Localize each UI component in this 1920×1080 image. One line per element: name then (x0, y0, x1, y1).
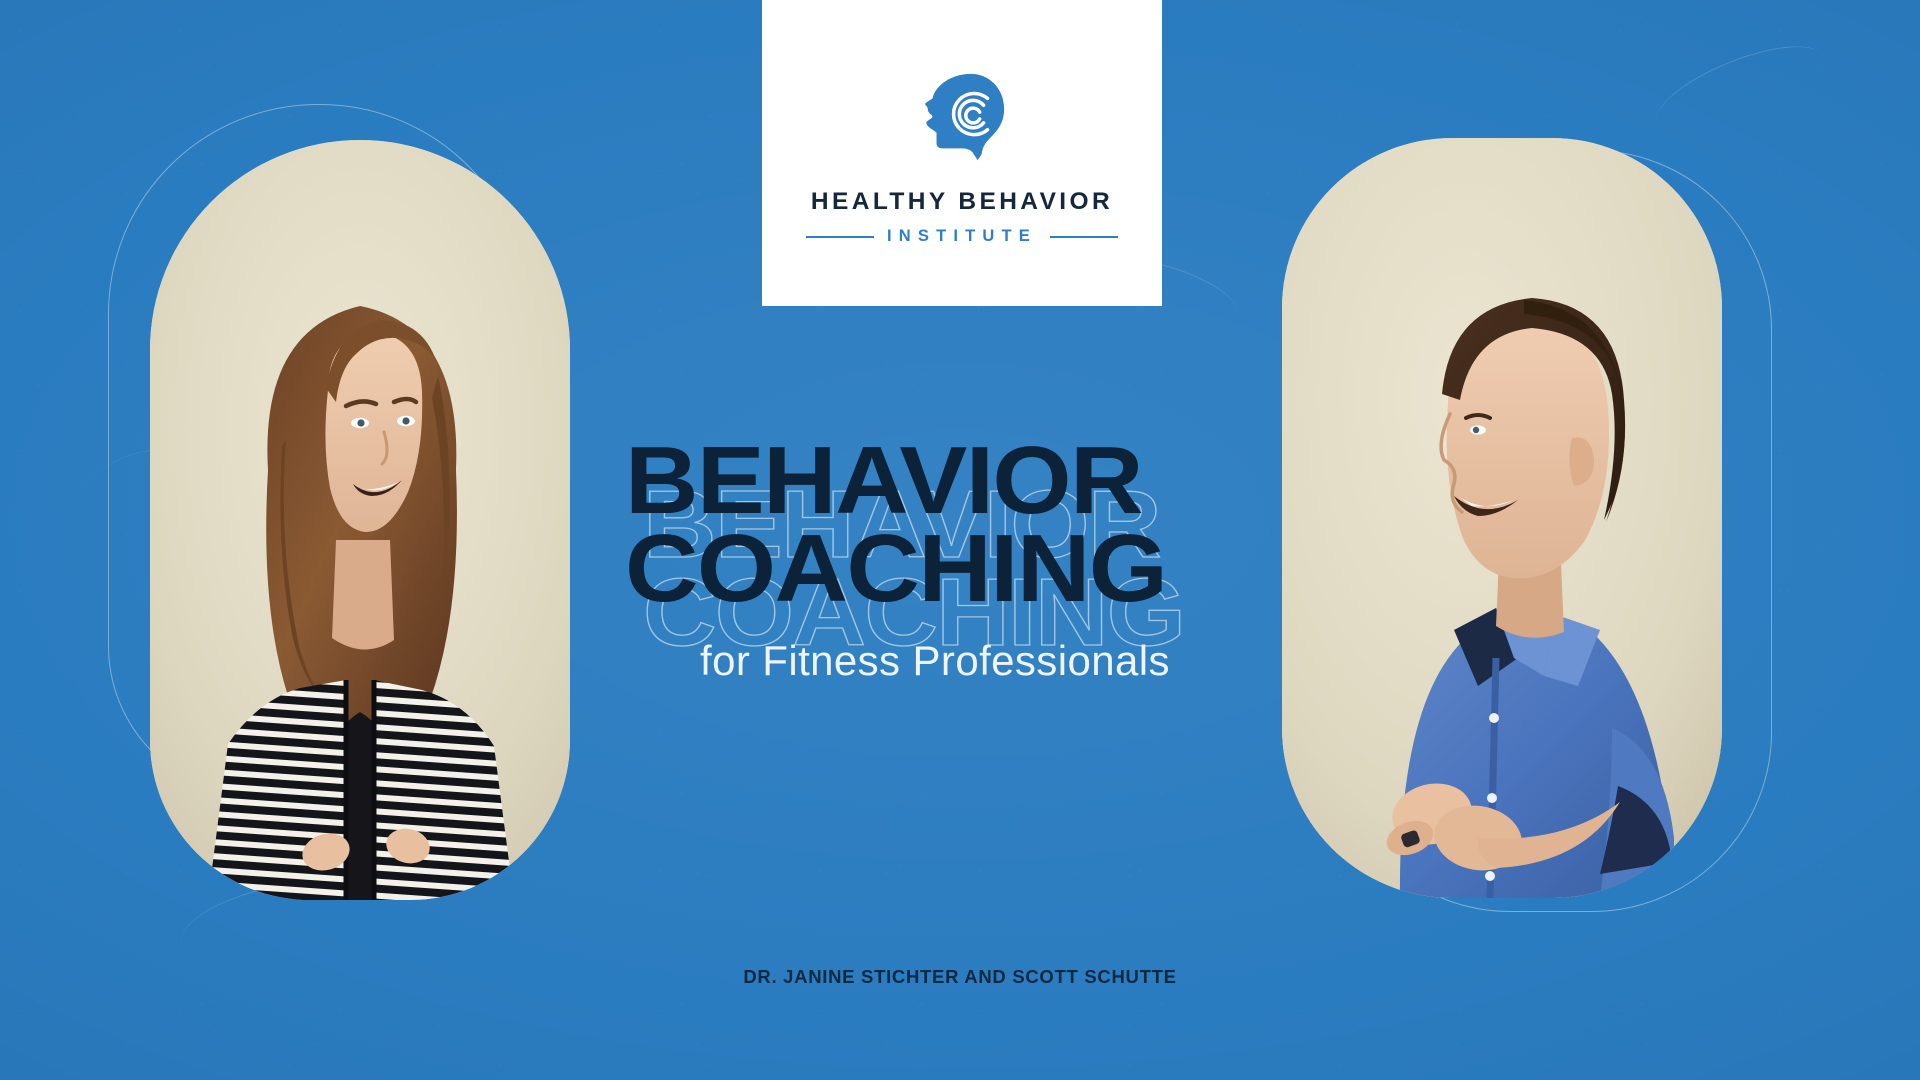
portrait-janine-illustration (150, 140, 570, 900)
headline-subtitle: for Fitness Professionals (700, 637, 1170, 685)
headline-line-1-solid: BEHAVIOR (625, 437, 1367, 525)
presenter-credits: DR. JANINE STICHTER AND SCOTT SCHUTTE (0, 966, 1920, 988)
head-brain-spiral-icon (913, 68, 1011, 166)
headline-block: BEHAVIOR BEHAVIOR COACHING COACHING (625, 437, 1325, 614)
portrait-janine-stichter (150, 140, 570, 900)
headline-line-2-solid: COACHING (625, 525, 1367, 613)
headline-line-1: BEHAVIOR BEHAVIOR (625, 437, 1325, 525)
headline-line-2: COACHING COACHING (625, 525, 1325, 613)
logo-subwordmark: INSTITUTE (887, 227, 1037, 246)
slide-canvas: HEALTHY BEHAVIOR INSTITUTE BEHAVIOR BEHA… (0, 0, 1920, 1080)
logo-rule-left (806, 236, 874, 238)
logo-rule-right (1050, 236, 1118, 238)
logo-card: HEALTHY BEHAVIOR INSTITUTE (762, 0, 1162, 306)
scratch-mark (1645, 29, 1835, 153)
logo-wordmark: HEALTHY BEHAVIOR (811, 188, 1113, 216)
logo-subwordmark-row: INSTITUTE (806, 227, 1118, 246)
